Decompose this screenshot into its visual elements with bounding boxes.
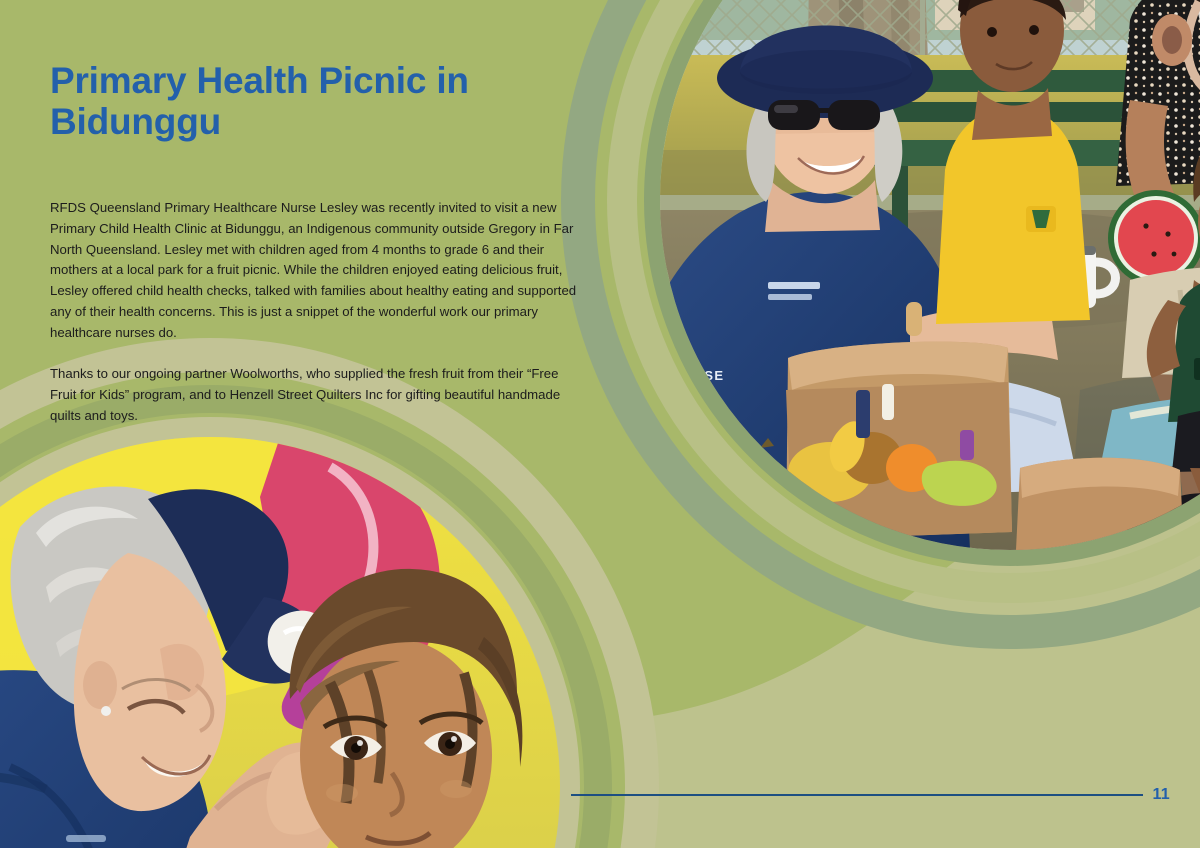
article-text-column: Primary Health Picnic in Bidunggu RFDS Q… [50,60,610,426]
body-paragraph-1: RFDS Queensland Primary Healthcare Nurse… [50,198,580,344]
page-title: Primary Health Picnic in Bidunggu [50,60,610,143]
body-paragraph-2: Thanks to our ongoing partner Woolworths… [50,364,580,427]
page-canvas: NURSE [0,0,1200,848]
